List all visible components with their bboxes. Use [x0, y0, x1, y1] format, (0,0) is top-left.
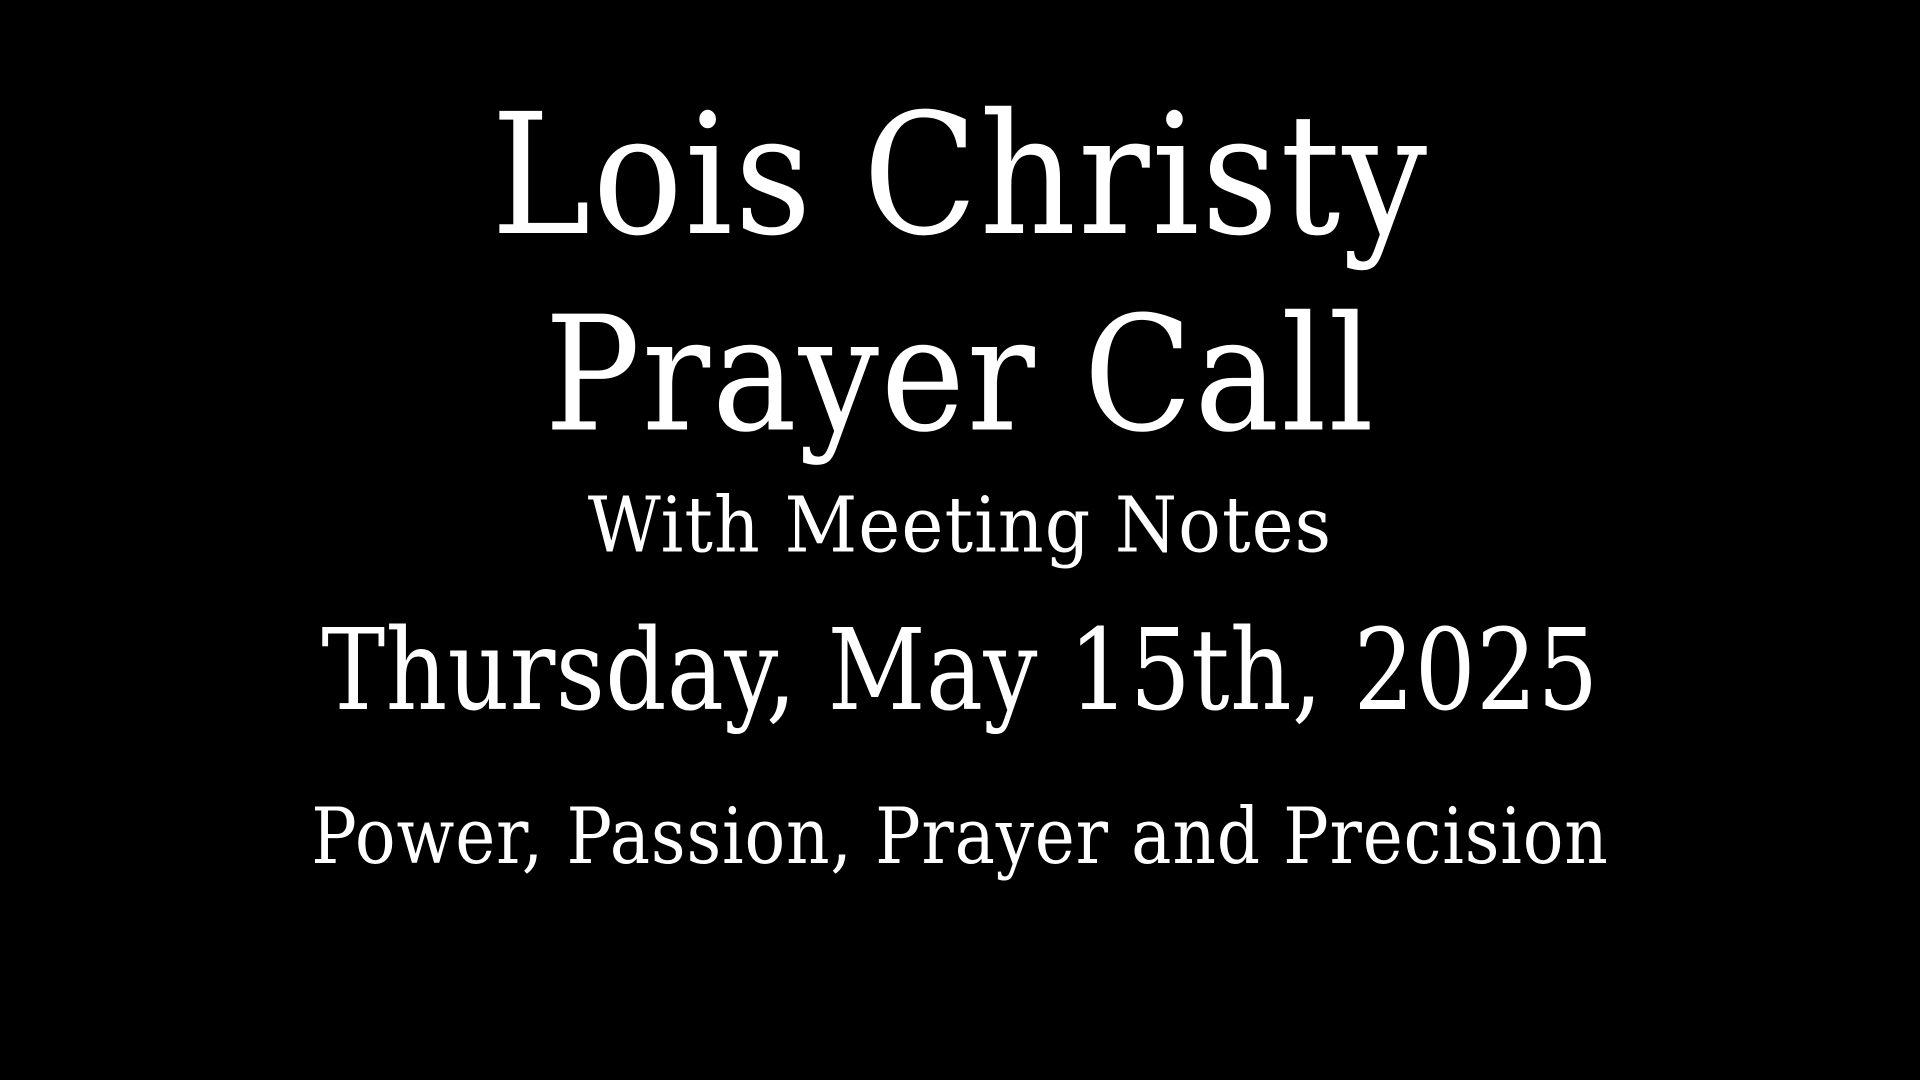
subtitle: With Meeting Notes [38, 487, 1881, 564]
organization-title-line-2: Prayer Call [48, 296, 1872, 455]
organization-title-line-1: Lois Christy [48, 92, 1872, 259]
meeting-date: Thursday, May 15th, 2025 [77, 614, 1843, 726]
title-slide: Lois Christy Prayer Call With Meeting No… [0, 0, 1920, 1080]
tagline: Power, Passion, Prayer and Precision [58, 797, 1863, 875]
